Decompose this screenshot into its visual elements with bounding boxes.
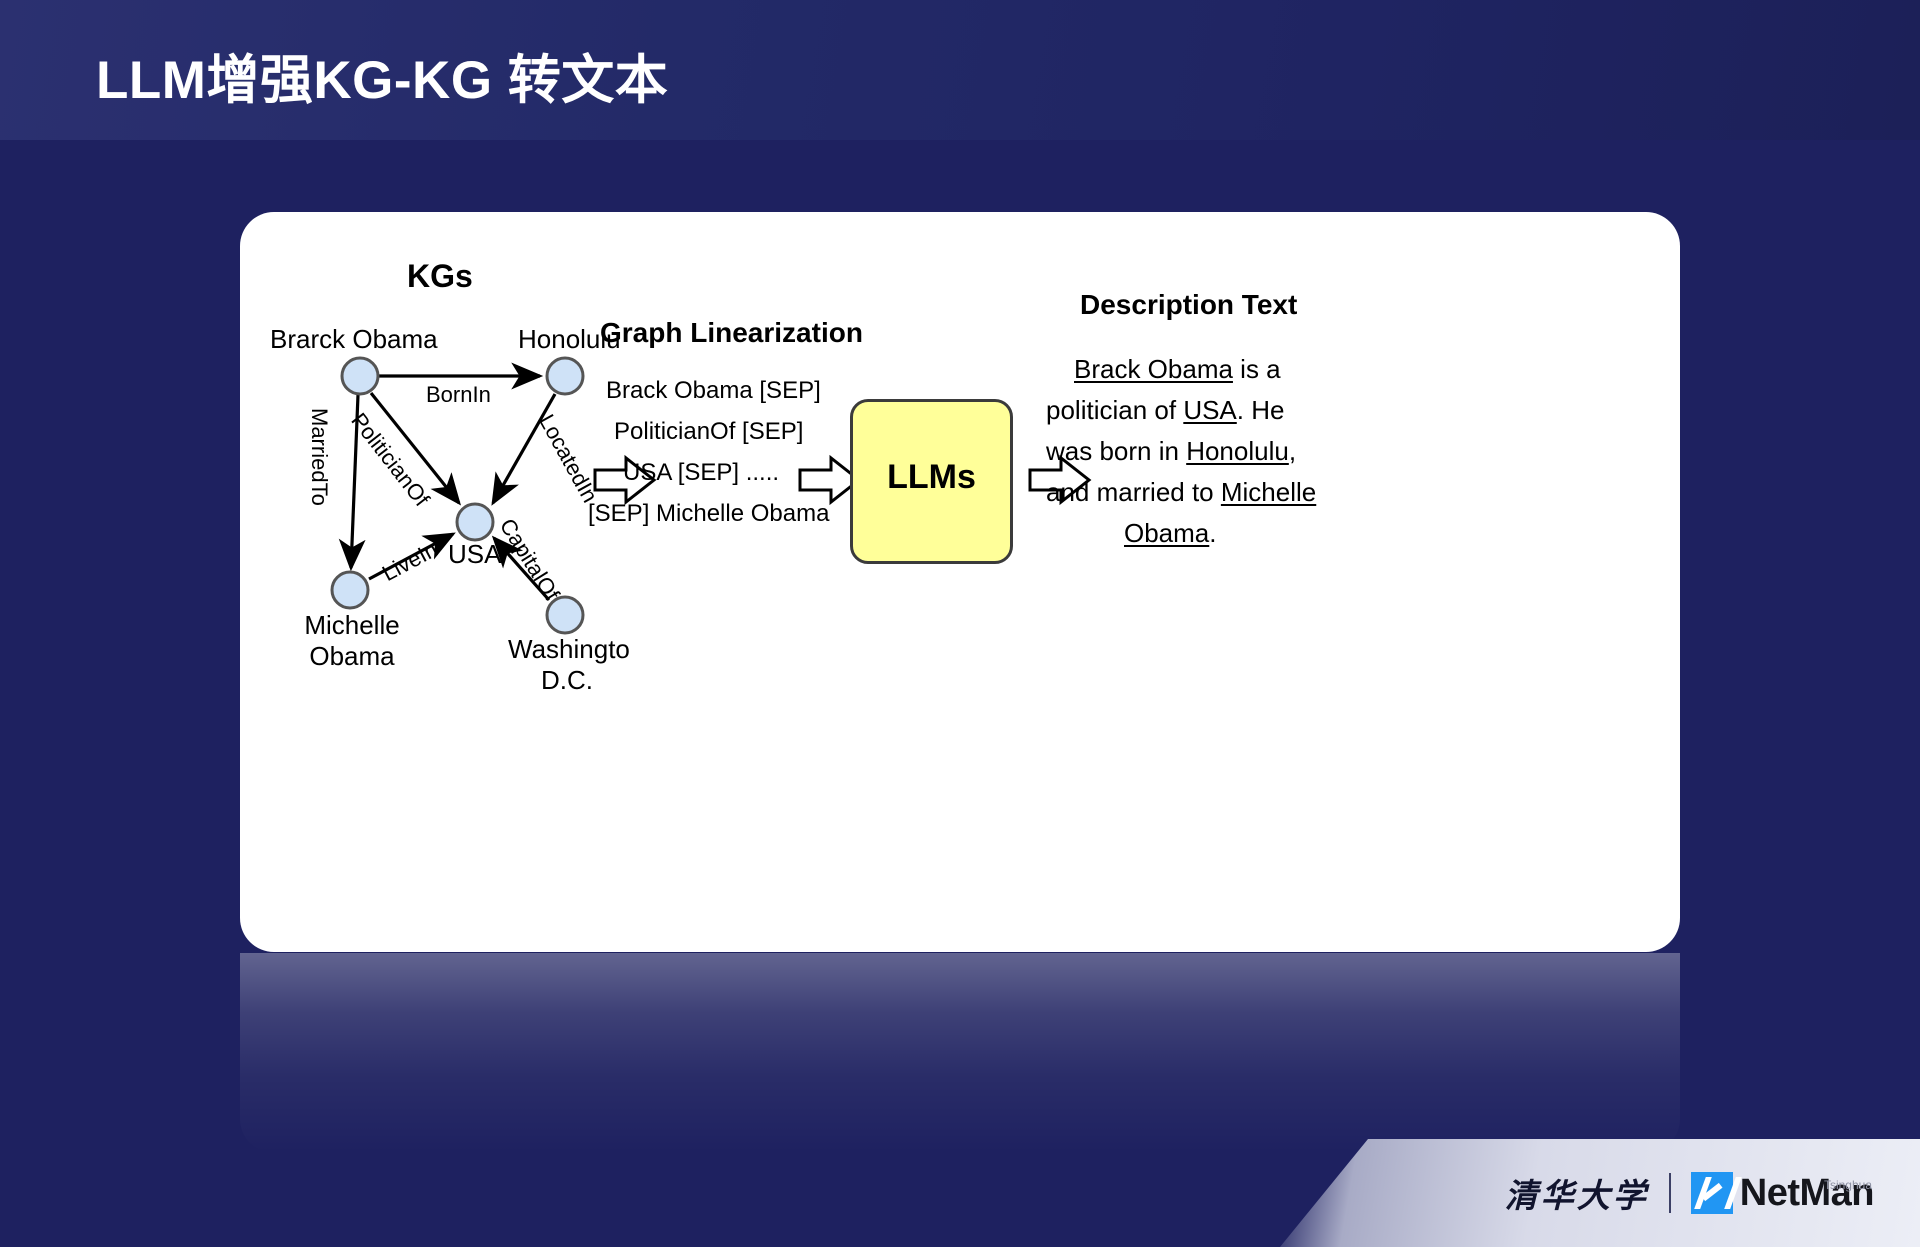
edge-locatedin xyxy=(493,394,555,503)
node-label-michelle-line2: Obama xyxy=(297,641,407,672)
node-label-usa: USA xyxy=(448,539,501,570)
entity-honolulu: Honolulu xyxy=(1186,436,1289,466)
node-label-brarck-obama: Brarck Obama xyxy=(270,324,438,355)
linearization-heading: Graph Linearization xyxy=(600,317,863,349)
description-line-3: was born in Honolulu, xyxy=(1046,436,1296,467)
slide-title-bar: LLM增强KG-KG 转文本 xyxy=(0,0,1920,140)
page-title: LLM增强KG-KG 转文本 xyxy=(96,38,668,114)
description-line-4: and married to Michelle xyxy=(1046,477,1316,508)
node-label-michelle-line1: Michelle xyxy=(297,610,407,641)
kgs-heading: KGs xyxy=(407,258,473,295)
desc-text-2b: . He xyxy=(1237,395,1285,425)
description-line-5: Obama. xyxy=(1124,518,1217,549)
linearization-line-1: Brack Obama [SEP] xyxy=(606,377,821,405)
llms-box-label: LLMs xyxy=(853,458,1010,497)
netman-mark-icon xyxy=(1691,1172,1733,1214)
node-michelle-obama xyxy=(332,572,368,608)
llms-box: LLMs xyxy=(850,399,1013,564)
desc-text-4a: and married to xyxy=(1046,477,1221,507)
linearization-line-4: [SEP] Michelle Obama xyxy=(588,500,829,528)
desc-text-2a: politician of xyxy=(1046,395,1183,425)
node-usa xyxy=(457,504,493,540)
entity-brack-obama: Brack Obama xyxy=(1074,354,1233,384)
description-heading: Description Text xyxy=(1080,289,1297,321)
pipeline-figure: KGs Graph Linearization Description Text… xyxy=(240,212,1680,952)
entity-obama: Obama xyxy=(1124,518,1209,548)
footer-logo-plate: 清华大学 NetMan Tsinghua xyxy=(1280,1139,1920,1247)
desc-text-3b: , xyxy=(1289,436,1296,466)
node-brarck-obama xyxy=(342,358,378,394)
node-label-washington-line1: Washingto xyxy=(508,634,626,665)
desc-text-1: is a xyxy=(1233,354,1281,384)
netman-logo: NetMan Tsinghua xyxy=(1691,1172,1874,1215)
description-line-2: politician of USA. He xyxy=(1046,395,1284,426)
tsinghua-university-logo: 清华大学 xyxy=(1505,1169,1649,1217)
slide-root: LLM增强KG-KG 转文本 xyxy=(0,0,1920,1247)
logo-divider xyxy=(1669,1173,1671,1213)
linearization-line-2: PoliticianOf [SEP] xyxy=(614,418,803,446)
node-washington-dc xyxy=(547,597,583,633)
card-reflection xyxy=(240,953,1680,1153)
node-label-washington-dc: Washingto D.C. xyxy=(508,634,626,696)
edge-label-marriedto: MarriedTo xyxy=(306,408,332,506)
description-line-1: Brack Obama is a xyxy=(1074,354,1281,385)
entity-michelle: Michelle xyxy=(1221,477,1316,507)
content-card: KGs Graph Linearization Description Text… xyxy=(240,212,1680,952)
desc-text-3a: was born in xyxy=(1046,436,1186,466)
netman-superscript: Tsinghua xyxy=(1824,1178,1872,1192)
node-honolulu xyxy=(547,358,583,394)
desc-text-5: . xyxy=(1209,518,1216,548)
linearization-line-3: USA [SEP] ..... xyxy=(623,459,779,487)
node-label-washington-line2: D.C. xyxy=(508,665,626,696)
node-label-michelle-obama: Michelle Obama xyxy=(297,610,407,672)
figure-vector-layer xyxy=(240,212,1680,952)
node-label-honolulu: Honolulu xyxy=(518,324,621,355)
edge-label-bornin: BornIn xyxy=(426,382,491,408)
footer-logo-group: 清华大学 NetMan Tsinghua xyxy=(1505,1139,1874,1247)
entity-usa: USA xyxy=(1183,395,1236,425)
